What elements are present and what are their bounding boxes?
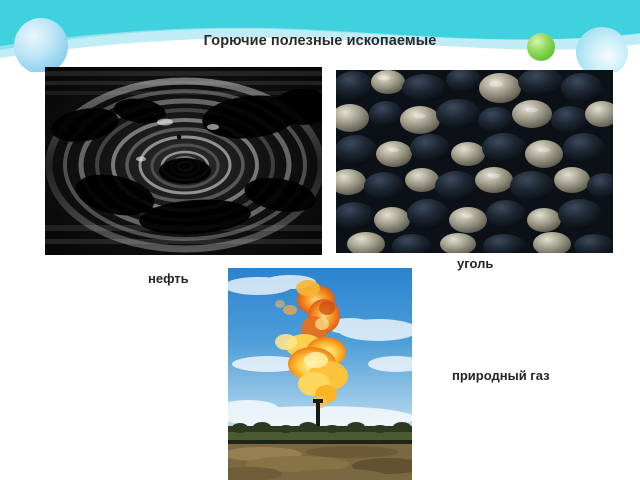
oil-ripples-photo (45, 67, 322, 255)
gas-flare-graphic (228, 268, 412, 480)
gas-flare-photo (228, 268, 412, 480)
coal-lumps-photo (336, 70, 613, 253)
page-title: Горючие полезные ископаемые (0, 33, 640, 49)
caption-coal: уголь (457, 256, 493, 271)
caption-gas: природный газ (452, 368, 550, 383)
caption-oil: нефть (148, 271, 189, 286)
oil-ripples-graphic (45, 67, 322, 255)
coal-lumps-graphic (336, 70, 613, 253)
